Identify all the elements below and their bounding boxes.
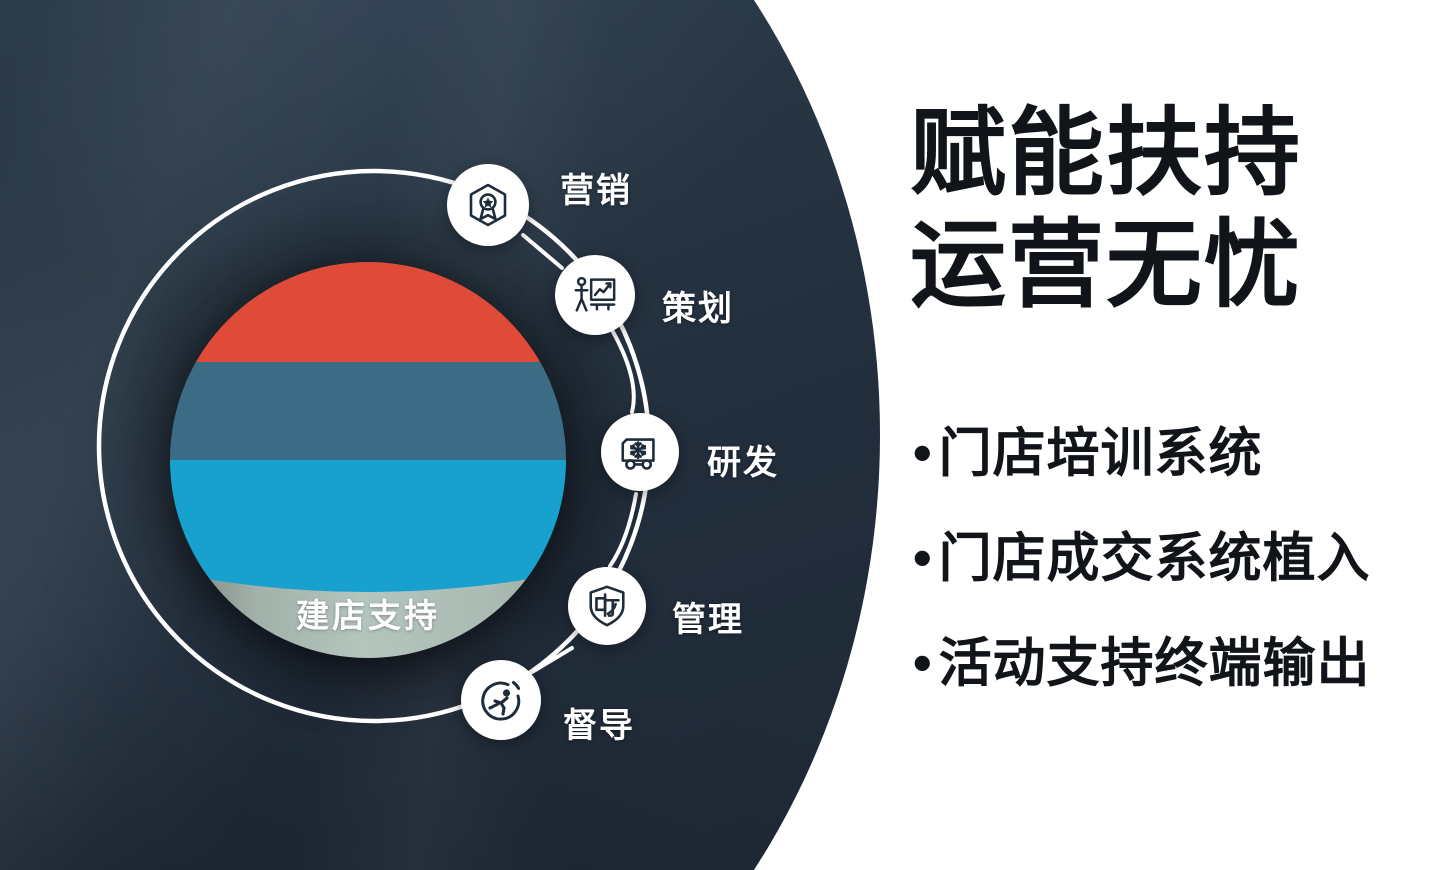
headline-line-2: 运营无忧 bbox=[910, 210, 1302, 322]
shield-bao-icon bbox=[584, 583, 630, 629]
orbit-node-supervision[interactable] bbox=[461, 660, 541, 740]
sphere-band-product: 产品支持 bbox=[170, 366, 566, 464]
orbit-node-label-planning: 策划 bbox=[662, 281, 734, 330]
sphere-band-label: 系统培训 bbox=[296, 486, 440, 542]
bullet-marker-icon: • bbox=[913, 634, 933, 694]
orbit-node-label-management: 管理 bbox=[672, 592, 744, 641]
page-title: 赋能扶持 运营无忧 bbox=[910, 98, 1302, 322]
award-badge-icon bbox=[464, 181, 512, 229]
headline-line-1: 赋能扶持 bbox=[910, 98, 1302, 210]
list-item: • 门店成交系统植入 bbox=[913, 529, 1433, 589]
right-content-panel: 赋能扶持 运营无忧 • 门店培训系统 • 门店成交系统植入 • 活动支持终端输出 bbox=[905, 0, 1446, 870]
orbit-node-label-rnd: 研发 bbox=[707, 435, 779, 484]
list-item-label: 门店成交系统植入 bbox=[939, 529, 1371, 589]
sphere-band-label: 营销支持 bbox=[296, 277, 440, 351]
sphere-band-label: 产品支持 bbox=[296, 386, 440, 444]
presentation-chart-icon bbox=[572, 272, 618, 318]
running-person-circle-icon bbox=[477, 676, 525, 724]
sphere-band-training: 系统培训 bbox=[170, 464, 566, 564]
bullet-marker-icon: • bbox=[913, 529, 933, 589]
orbit-node-planning[interactable] bbox=[555, 255, 635, 335]
refrigerated-truck-icon bbox=[617, 429, 663, 475]
list-item-label: 活动支持终端输出 bbox=[939, 634, 1371, 694]
list-item-label: 门店培训系统 bbox=[939, 424, 1263, 484]
orbit-node-marketing[interactable] bbox=[447, 164, 529, 246]
poster-canvas: 营销支持 产品支持 系统培训 建店支持 bbox=[0, 0, 1446, 870]
list-item: • 活动支持终端输出 bbox=[913, 634, 1433, 694]
sphere-band-label: 建店支持 bbox=[296, 585, 440, 637]
orbit-node-label-marketing: 营销 bbox=[560, 163, 632, 212]
sphere-band-marketing: 营销支持 bbox=[170, 262, 566, 366]
sphere-band-storebuild: 建店支持 bbox=[170, 564, 566, 658]
feature-bullet-list: • 门店培训系统 • 门店成交系统植入 • 活动支持终端输出 bbox=[913, 424, 1433, 739]
support-sphere: 营销支持 产品支持 系统培训 建店支持 bbox=[170, 262, 566, 658]
orbit-node-management[interactable] bbox=[568, 567, 646, 645]
orbit-node-rnd[interactable] bbox=[601, 413, 679, 491]
bullet-marker-icon: • bbox=[913, 424, 933, 484]
list-item: • 门店培训系统 bbox=[913, 424, 1433, 484]
orbit-node-label-supervision: 督导 bbox=[563, 698, 635, 747]
